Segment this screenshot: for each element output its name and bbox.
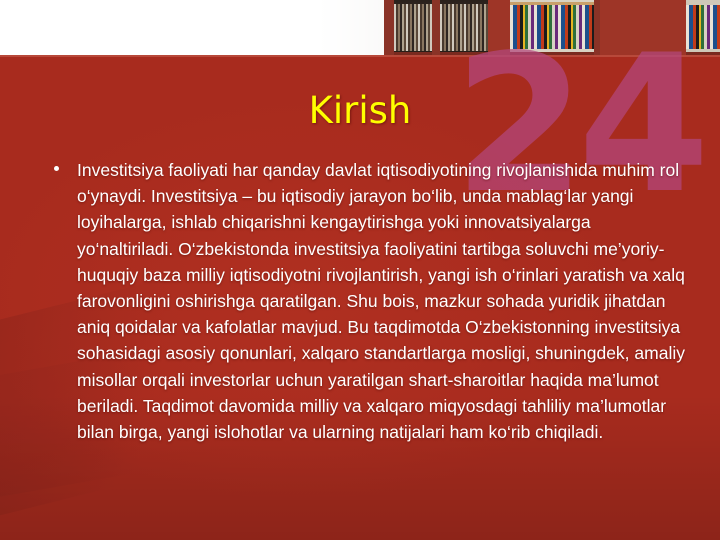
body-bullet-list: Investitsiya faoliyati har qanday davlat… — [42, 157, 686, 445]
bullet-dot-icon — [54, 166, 59, 171]
list-item: Investitsiya faoliyati har qanday davlat… — [42, 157, 686, 445]
bookshelf-post — [384, 0, 394, 57]
book-spines — [394, 4, 432, 51]
bookshelf-section — [394, 0, 432, 57]
presentation-slide: 24 Kirish Investitsiya faoliyati har qan… — [0, 0, 720, 540]
list-item-text: Investitsiya faoliyati har qanday davlat… — [77, 160, 685, 442]
bookshelf-post — [432, 0, 440, 57]
slide-content: Kirish Investitsiya faoliyati har qanday… — [0, 57, 720, 540]
page-title: Kirish — [0, 89, 720, 132]
